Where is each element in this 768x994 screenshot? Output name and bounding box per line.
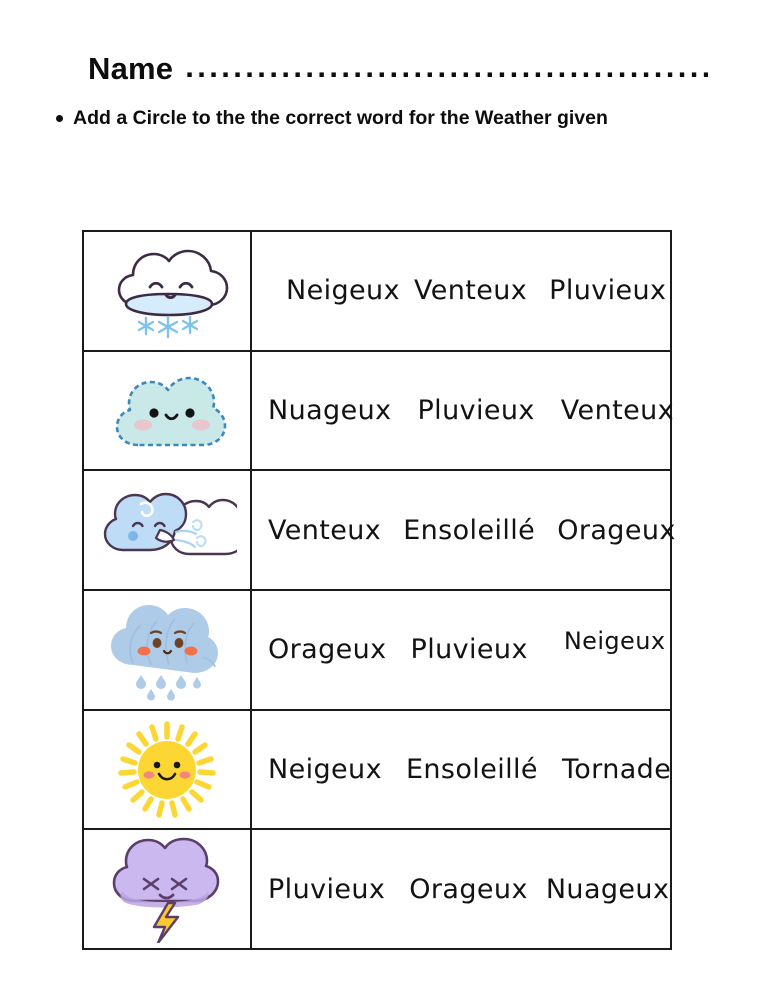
table-row: Orageux Pluvieux Neigeux xyxy=(84,591,670,711)
icon-cell xyxy=(84,352,252,470)
word-option[interactable]: Orageux xyxy=(409,874,528,905)
icon-cell xyxy=(84,471,252,589)
words-cell: Neigeux Ensoleillé Tornade xyxy=(252,711,687,829)
rainy-cloud-icon xyxy=(99,597,235,703)
storm-cloud-icon xyxy=(102,835,232,943)
snowy-cloud-icon xyxy=(102,243,232,339)
table-row: Neigeux Ensoleillé Tornade xyxy=(84,711,670,831)
word-option[interactable]: Pluvieux xyxy=(418,395,535,426)
word-option[interactable]: Orageux xyxy=(268,634,387,665)
word-option[interactable]: Ensoleillé xyxy=(403,515,535,546)
windy-cloud-icon xyxy=(97,482,237,578)
word-option[interactable]: Nuageux xyxy=(546,874,670,905)
word-option[interactable]: Venteux xyxy=(268,515,381,546)
table-row: Venteux Ensoleillé Orageux xyxy=(84,471,670,591)
words-cell: Neigeux Venteux Pluvieux xyxy=(252,232,682,350)
sun-icon xyxy=(109,715,225,825)
word-option[interactable]: Nuageux xyxy=(268,395,392,426)
word-option[interactable]: Neigeux xyxy=(286,275,400,306)
word-option[interactable]: Neigeux xyxy=(268,754,382,785)
words-cell: Orageux Pluvieux Neigeux xyxy=(252,591,681,709)
word-option[interactable]: Orageux xyxy=(557,515,676,546)
words-cell: Pluvieux Orageux Nuageux xyxy=(252,830,685,948)
word-option[interactable]: Pluvieux xyxy=(268,874,385,905)
cloudy-cloud-icon xyxy=(102,361,232,461)
table-row: Neigeux Venteux Pluvieux xyxy=(84,232,670,352)
instruction-line: Add a Circle to the the correct word for… xyxy=(56,106,746,130)
instruction-text: Add a Circle to the the correct word for… xyxy=(73,106,608,130)
name-dotted-line: ........................................… xyxy=(185,56,708,86)
word-option[interactable]: Neigeux xyxy=(564,627,666,655)
word-option[interactable]: Venteux xyxy=(414,275,527,306)
word-option[interactable]: Tornade xyxy=(562,754,671,785)
word-option[interactable]: Venteux xyxy=(561,395,674,426)
bullet-icon xyxy=(56,115,63,122)
word-option[interactable]: Pluvieux xyxy=(411,634,528,665)
word-option[interactable]: Ensoleillé xyxy=(406,754,538,785)
icon-cell xyxy=(84,830,252,948)
icon-cell xyxy=(84,232,252,350)
words-cell: Venteux Ensoleillé Orageux xyxy=(252,471,692,589)
name-label: Name xyxy=(88,52,173,86)
icon-cell xyxy=(84,591,252,709)
name-row: Name ...................................… xyxy=(88,42,708,86)
table-row: Pluvieux Orageux Nuageux xyxy=(84,830,670,948)
word-option[interactable]: Pluvieux xyxy=(549,275,666,306)
icon-cell xyxy=(84,711,252,829)
words-cell: Nuageux Pluvieux Venteux xyxy=(252,352,690,470)
table-row: Nuageux Pluvieux Venteux xyxy=(84,352,670,472)
worksheet-table: Neigeux Venteux Pluvieux Nuageux Pluvieu… xyxy=(82,230,672,950)
